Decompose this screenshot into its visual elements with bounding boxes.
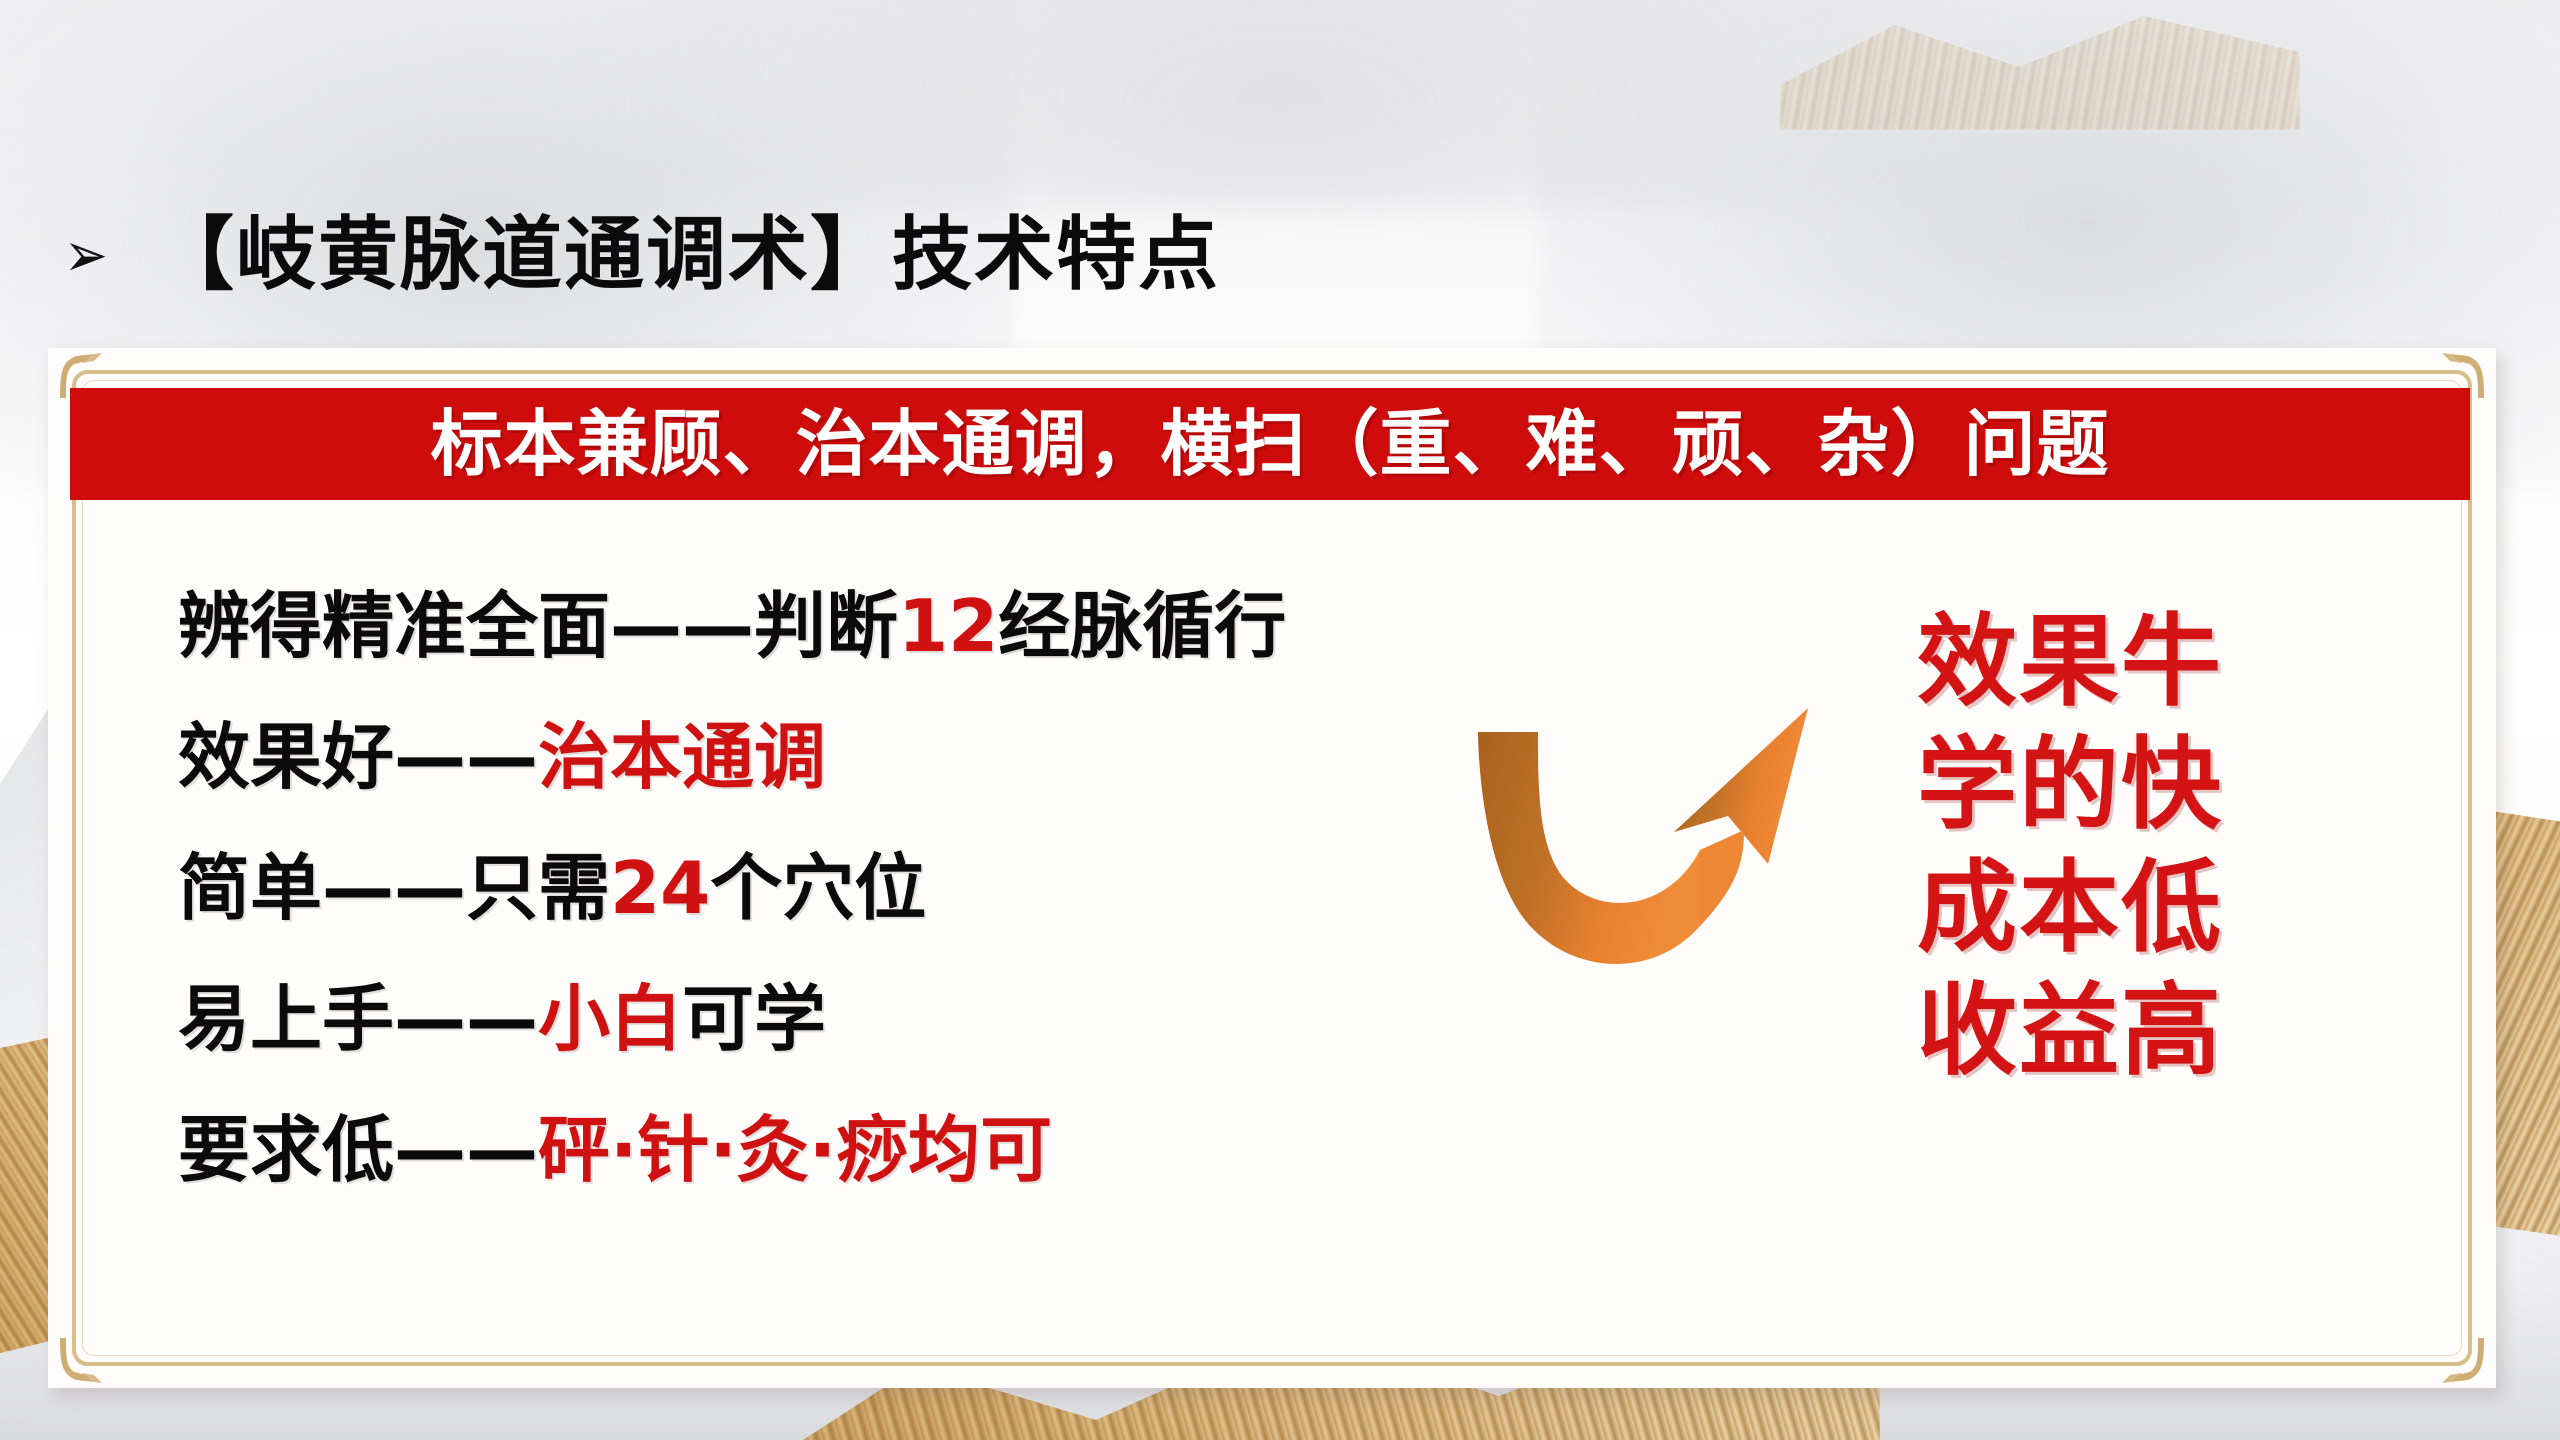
- feature-suffix: 个穴位: [710, 852, 926, 924]
- feature-highlight: 治本通调: [538, 721, 826, 793]
- feature-label: 易上手——: [178, 983, 538, 1055]
- benefit-column: 效果牛 学的快 成本低 收益高: [1860, 600, 2280, 1092]
- list-item: 效果好—— 治本通调: [178, 691, 1478, 822]
- feature-suffix: 经脉循行: [998, 590, 1286, 662]
- benefit-item: 学的快: [1917, 723, 2223, 846]
- feature-highlight: 砰·针·灸·痧均可: [538, 1114, 1052, 1186]
- corner-ornament-icon: [2432, 1336, 2488, 1384]
- feature-label: 简单——只需: [178, 852, 610, 924]
- list-item: 简单——只需 24 个穴位: [178, 822, 1478, 953]
- feature-label: 要求低——: [178, 1114, 538, 1186]
- feature-suffix: 可学: [682, 983, 826, 1055]
- page-title: ➢ 【岐黄脉道通调术】技术特点: [60, 215, 1220, 295]
- feature-highlight: 小白: [538, 983, 682, 1055]
- list-item: 辨得精准全面——判断 12 经脉循行: [178, 560, 1478, 691]
- benefit-item: 成本低: [1917, 846, 2223, 969]
- feature-label: 效果好——: [178, 721, 538, 793]
- arrow-bullet-icon: ➢: [64, 224, 108, 286]
- list-item: 易上手—— 小白 可学: [178, 953, 1478, 1084]
- feature-list: 辨得精准全面——判断 12 经脉循行 效果好—— 治本通调 简单——只需 24 …: [178, 560, 1478, 1215]
- curved-up-arrow-icon: [1438, 690, 1818, 1020]
- slide-canvas: ➢ 【岐黄脉道通调术】技术特点 标本兼顾、治本通调，横扫（重、难、顽、杂）问题 …: [0, 0, 2560, 1440]
- corner-ornament-icon: [56, 1336, 112, 1384]
- page-title-text: 【岐黄脉道通调术】技术特点: [154, 215, 1220, 295]
- list-item: 要求低—— 砰·针·灸·痧均可: [178, 1084, 1478, 1215]
- feature-highlight: 12: [898, 590, 998, 662]
- feature-highlight: 24: [610, 852, 710, 924]
- feature-label: 辨得精准全面——判断: [178, 590, 898, 662]
- benefit-item: 收益高: [1917, 969, 2223, 1092]
- benefit-item: 效果牛: [1917, 600, 2223, 723]
- headline-banner: 标本兼顾、治本通调，横扫（重、难、顽、杂）问题: [70, 388, 2470, 500]
- headline-banner-text: 标本兼顾、治本通调，横扫（重、难、顽、杂）问题: [430, 408, 2109, 480]
